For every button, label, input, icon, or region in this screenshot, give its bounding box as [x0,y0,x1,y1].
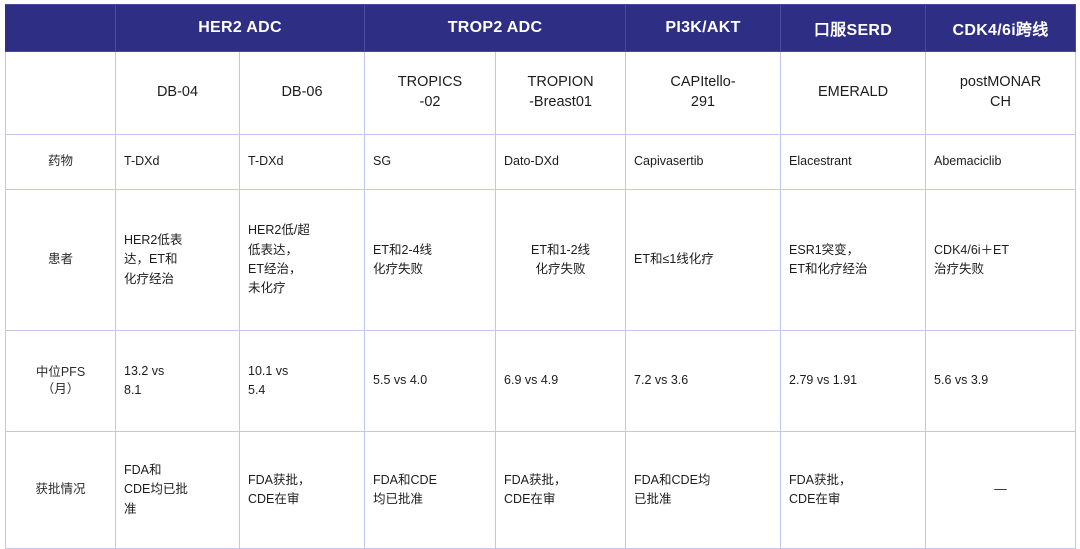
trial-postmonarch: postMONARCH [926,52,1076,135]
trial-name-row: DB-04 DB-06 TROPICS-02 TROPION-Breast01 … [6,52,1076,135]
group-header-row: HER2 ADC TROP2 ADC PI3K/AKT 口服SERD CDK4/… [6,5,1076,52]
pfs-tropics-02: 5.5 vs 4.0 [365,331,496,432]
approval-db-06: FDA获批，CDE在审 [240,432,365,549]
pfs-db-04: 13.2 vs8.1 [116,331,240,432]
table-row-median-pfs: 中位PFS（月） 13.2 vs8.1 10.1 vs5.4 5.5 vs 4.… [6,331,1076,432]
trial-tropics-02: TROPICS-02 [365,52,496,135]
row-label-median-pfs: 中位PFS（月） [6,331,116,432]
trial-capitello-291: CAPItello-291 [626,52,781,135]
pfs-db-06: 10.1 vs5.4 [240,331,365,432]
trial-row-blank-label [6,52,116,135]
pfs-capitello-291: 7.2 vs 3.6 [626,331,781,432]
trial-db-06: DB-06 [240,52,365,135]
drug-db-04: T-DXd [116,135,240,190]
header-corner-blank [6,5,116,52]
table-row-patients: 患者 HER2低表达，ET和化疗经治 HER2低/超低表达，ET经治，未化疗 E… [6,190,1076,331]
row-label-drug: 药物 [6,135,116,190]
drug-postmonarch: Abemaciclib [926,135,1076,190]
patients-tropics-02: ET和2-4线化疗失败 [365,190,496,331]
pfs-postmonarch: 5.6 vs 3.9 [926,331,1076,432]
drug-tropion-breast01: Dato-DXd [496,135,626,190]
patients-tropion-breast01: ET和1-2线化疗失败 [496,190,626,331]
approval-tropion-breast01: FDA获批，CDE在审 [496,432,626,549]
patients-db-04: HER2低表达，ET和化疗经治 [116,190,240,331]
table-row-approval-status: 获批情况 FDA和CDE均已批准 FDA获批，CDE在审 FDA和CDE均已批准… [6,432,1076,549]
patients-db-06: HER2低/超低表达，ET经治，未化疗 [240,190,365,331]
table-row-drug: 药物 T-DXd T-DXd SG Dato-DXd Capivasertib … [6,135,1076,190]
approval-emerald: FDA获批，CDE在审 [781,432,926,549]
trial-tropion-breast01: TROPION-Breast01 [496,52,626,135]
drug-tropics-02: SG [365,135,496,190]
group-header-cdk46i: CDK4/6i跨线 [926,5,1076,52]
pfs-emerald: 2.79 vs 1.91 [781,331,926,432]
row-label-approval-status: 获批情况 [6,432,116,549]
drug-emerald: Elacestrant [781,135,926,190]
approval-db-04: FDA和CDE均已批准 [116,432,240,549]
trials-comparison-table: HER2 ADC TROP2 ADC PI3K/AKT 口服SERD CDK4/… [5,4,1076,549]
drug-capitello-291: Capivasertib [626,135,781,190]
pfs-tropion-breast01: 6.9 vs 4.9 [496,331,626,432]
patients-capitello-291: ET和≤1线化疗 [626,190,781,331]
patients-emerald: ESR1突变，ET和化疗经治 [781,190,926,331]
group-header-trop2-adc: TROP2 ADC [365,5,626,52]
approval-postmonarch: — [926,432,1076,549]
row-label-patients: 患者 [6,190,116,331]
trial-emerald: EMERALD [781,52,926,135]
group-header-her2-adc: HER2 ADC [116,5,365,52]
patients-postmonarch: CDK4/6i＋ET治疗失败 [926,190,1076,331]
approval-capitello-291: FDA和CDE均已批准 [626,432,781,549]
group-header-oral-serd: 口服SERD [781,5,926,52]
approval-tropics-02: FDA和CDE均已批准 [365,432,496,549]
table-container: HER2 ADC TROP2 ADC PI3K/AKT 口服SERD CDK4/… [0,0,1080,510]
drug-db-06: T-DXd [240,135,365,190]
group-header-pi3k-akt: PI3K/AKT [626,5,781,52]
trial-db-04: DB-04 [116,52,240,135]
